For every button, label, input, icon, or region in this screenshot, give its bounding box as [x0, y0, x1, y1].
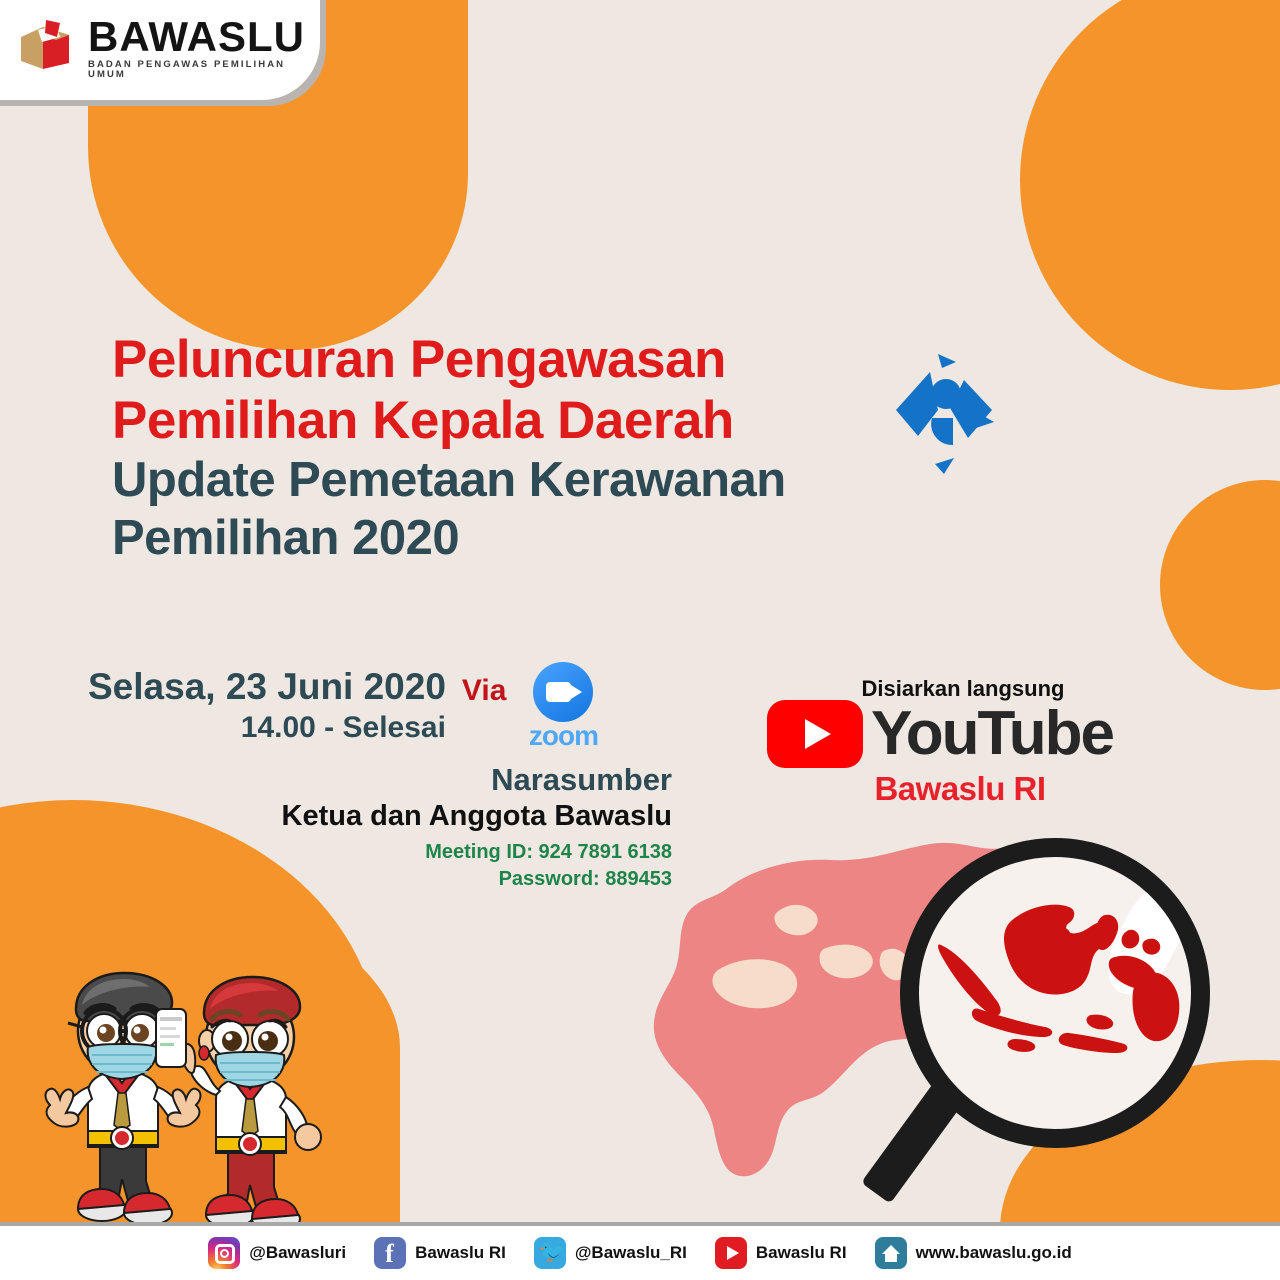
bawaslu-logo-card: BAWASLU BADAN PENGAWAS PEMILIHAN UMUM	[0, 0, 320, 100]
decor-orange-top-right	[1020, 0, 1280, 390]
youtube-channel-name: Bawaslu RI	[820, 770, 1100, 808]
youtube-broadcast-block: Disiarkan langsung YouTube Bawaslu RI	[780, 676, 1100, 808]
title-line-4: Pemilihan 2020	[112, 510, 786, 568]
twitter-handle: @Bawaslu_RI	[575, 1243, 687, 1263]
title-line-2: Pemilihan Kepala Daerah	[112, 391, 786, 452]
poster-title: Peluncuran Pengawasan Pemilihan Kepala D…	[112, 330, 786, 568]
instagram-handle: @Bawasluri	[249, 1243, 346, 1263]
mascot-characters	[22, 965, 362, 1230]
meeting-id: Meeting ID: 924 7891 6138	[88, 841, 688, 864]
social-twitter[interactable]: 🐦 @Bawaslu_RI	[534, 1237, 687, 1269]
footer-social-bar: @Bawasluri f Bawaslu RI 🐦 @Bawaslu_RI Ba…	[0, 1226, 1280, 1280]
speaker-name: Ketua dan Anggota Bawaslu	[88, 800, 688, 833]
youtube-icon	[715, 1237, 747, 1269]
world-map-graphic	[630, 830, 1270, 1230]
social-youtube[interactable]: Bawaslu RI	[715, 1237, 847, 1269]
logo-tagline: BADAN PENGAWAS PEMILIHAN UMUM	[88, 60, 320, 79]
magnifier-icon	[900, 838, 1210, 1148]
title-line-3: Update Pemetaan Kerawanan	[112, 452, 786, 510]
event-details: Selasa, 23 Juni 2020 14.00 - Selesai Via…	[88, 668, 688, 891]
event-time: 14.00 - Selesai	[88, 711, 446, 745]
social-instagram[interactable]: @Bawasluri	[208, 1237, 346, 1269]
title-line-1: Peluncuran Pengawasan	[112, 330, 786, 391]
bawaslu-ballotbox-icon	[16, 17, 78, 79]
youtube-handle: Bawaslu RI	[756, 1243, 847, 1263]
facebook-icon: f	[374, 1237, 406, 1269]
zoom-camera-icon	[533, 662, 593, 722]
website-url: www.bawaslu.go.id	[916, 1243, 1072, 1263]
zoom-wordmark: zoom	[520, 720, 606, 752]
decor-orange-mid-right	[1160, 480, 1280, 690]
social-website[interactable]: www.bawaslu.go.id	[875, 1237, 1072, 1269]
facebook-handle: Bawaslu RI	[415, 1243, 506, 1263]
twitter-icon: 🐦	[534, 1237, 566, 1269]
youtube-wordmark: YouTube	[871, 703, 1113, 765]
instagram-icon	[208, 1237, 240, 1269]
social-facebook[interactable]: f Bawaslu RI	[374, 1237, 506, 1269]
zoom-logo: zoom	[520, 662, 606, 752]
website-home-icon	[875, 1237, 907, 1269]
speaker-heading: Narasumber	[88, 762, 688, 798]
via-label: Via	[462, 674, 507, 708]
pilkada-diamond-icon	[880, 352, 1010, 480]
event-date: Selasa, 23 Juni 2020	[88, 668, 446, 707]
youtube-play-icon	[767, 700, 863, 768]
logo-wordmark: BAWASLU	[88, 16, 320, 58]
poster-canvas: BAWASLU BADAN PENGAWAS PEMILIHAN UMUM Pe…	[0, 0, 1280, 1280]
meeting-password: Password: 889453	[88, 868, 688, 891]
